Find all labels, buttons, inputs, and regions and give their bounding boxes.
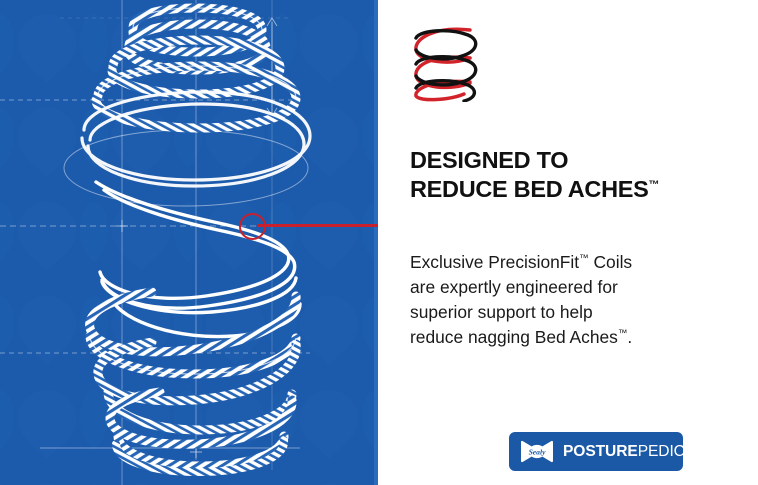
posturepedic-light: PEDIC (638, 443, 685, 460)
headline: DESIGNED TO REDUCE BED ACHES™ (410, 146, 740, 204)
body-trademark-2: ™ (618, 328, 628, 339)
body-trademark-1: ™ (579, 253, 589, 264)
sealy-posturepedic-logo-badge: Sealy POSTUREPEDIC (509, 432, 683, 471)
spring-coil-blueprint-drawing (0, 0, 378, 485)
content-panel: DESIGNED TO REDUCE BED ACHES™ Exclusive … (378, 0, 758, 485)
body-copy: Exclusive PrecisionFit™ Coils are expert… (410, 250, 700, 350)
coil-blueprint-panel (0, 0, 378, 485)
headline-line-2: REDUCE BED ACHES™ (410, 175, 740, 204)
spring-coil-icon (408, 24, 486, 102)
posturepedic-wordmark: POSTUREPEDIC (563, 443, 685, 461)
headline-trademark: ™ (649, 179, 660, 191)
body-line-1: Exclusive PrecisionFit (410, 252, 579, 272)
headline-line-2-text: REDUCE BED ACHES (410, 176, 649, 202)
headline-line-1: DESIGNED TO (410, 146, 740, 175)
body-line-4b: . (627, 327, 632, 347)
body-line-3: superior support to help (410, 302, 593, 322)
body-line-1b: Coils (589, 252, 633, 272)
body-line-2: are expertly engineered for (410, 277, 618, 297)
advertisement-canvas: DESIGNED TO REDUCE BED ACHES™ Exclusive … (0, 0, 758, 485)
sealy-bowtie-logo-icon: Sealy (520, 440, 554, 463)
sealy-wordmark: Sealy (529, 447, 547, 456)
posturepedic-bold: POSTURE (563, 443, 638, 460)
body-line-4: reduce nagging Bed Aches (410, 327, 618, 347)
